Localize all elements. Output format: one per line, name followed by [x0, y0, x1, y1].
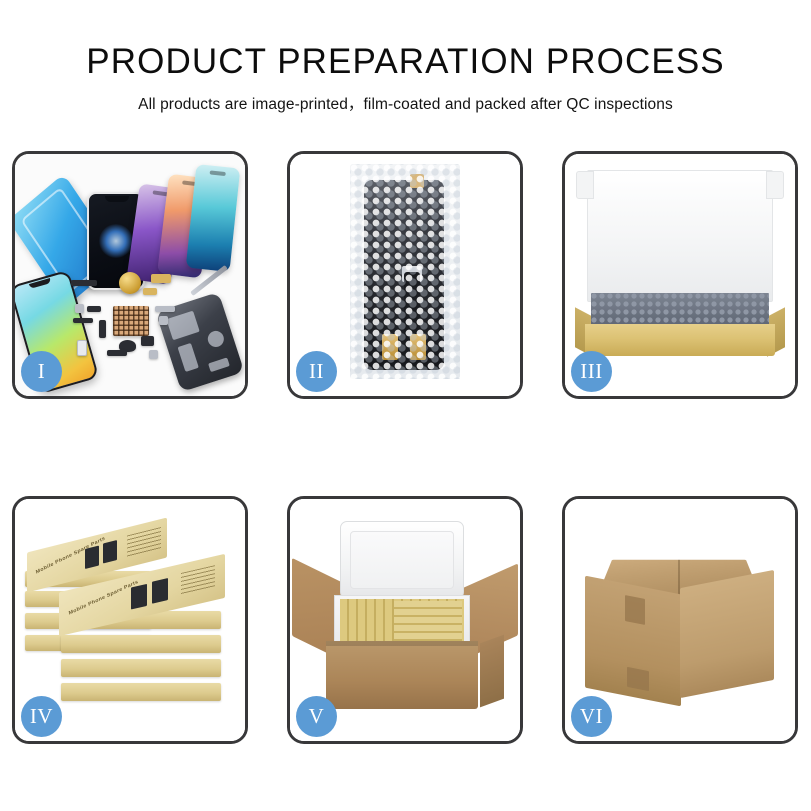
step-badge-3: III [571, 351, 612, 392]
process-step-grid: I [12, 151, 799, 751]
step-panel-5[interactable]: V [287, 496, 523, 744]
step-badge-5: V [296, 696, 337, 737]
step-panel-1[interactable]: I [12, 151, 248, 399]
step-badge-6: VI [571, 696, 612, 737]
step-panel-2[interactable]: II [287, 151, 523, 399]
step-badge-2: II [296, 351, 337, 392]
step-panel-4[interactable]: Mobile Phone Spare Parts Mobile Phone Sp… [12, 496, 248, 744]
page-title: PRODUCT PREPARATION PROCESS [0, 44, 811, 81]
page-subtitle: All products are image-printed，film-coat… [0, 92, 811, 114]
step-badge-1: I [21, 351, 62, 392]
step-badge-4: IV [21, 696, 62, 737]
header: PRODUCT PREPARATION PROCESS All products… [0, 0, 811, 114]
stacked-boxes-illustration: Mobile Phone Spare Parts Mobile Phone Sp… [25, 519, 237, 719]
sealed-carton-illustration [581, 523, 777, 703]
product-preparation-infographic: PRODUCT PREPARATION PROCESS All products… [0, 0, 811, 811]
step-panel-6[interactable]: VI [562, 496, 798, 744]
step-panel-3[interactable]: III [562, 151, 798, 399]
